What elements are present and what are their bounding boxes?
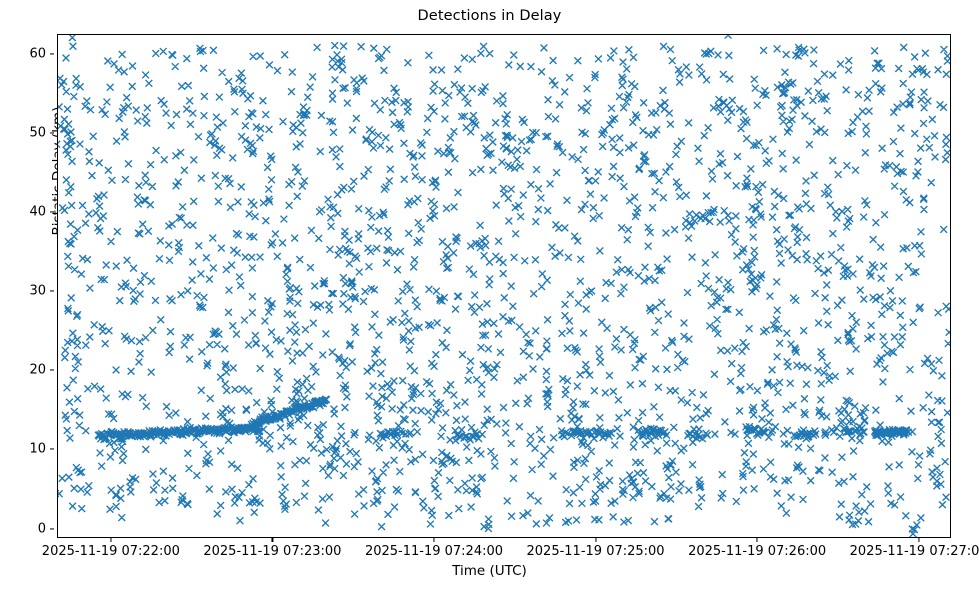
x-tick-label: 2025-11-19 07:23:00 (203, 544, 341, 559)
y-tick-mark (50, 528, 54, 529)
y-tick-mark (50, 449, 54, 450)
y-tick-label: 60 (6, 46, 46, 61)
y-tick-label: 40 (6, 205, 46, 220)
x-tick-label: 2025-11-19 07:22:00 (42, 544, 180, 559)
matplotlib-figure: Detections in Delay Bistatic Delay (km) … (0, 0, 979, 590)
y-tick-mark (50, 53, 54, 54)
x-tick-label: 2025-11-19 07:24:00 (365, 544, 503, 559)
y-axis-tick-labels: 0102030405060 (2, 34, 46, 538)
x-tick-label: 2025-11-19 07:26:00 (688, 544, 826, 559)
y-tick-mark (50, 211, 54, 212)
y-tick-label: 0 (6, 521, 46, 536)
y-tick-mark (50, 132, 54, 133)
x-tick-label: 2025-11-19 07:27:00 (850, 544, 979, 559)
y-tick-mark (50, 291, 54, 292)
plot-area (57, 34, 951, 538)
y-axis-tick-marks (50, 34, 57, 538)
y-tick-label: 50 (6, 125, 46, 140)
y-tick-label: 30 (6, 284, 46, 299)
scatter-series-detections (58, 35, 950, 537)
x-tick-label: 2025-11-19 07:25:00 (527, 544, 665, 559)
y-tick-label: 20 (6, 363, 46, 378)
x-axis-tick-labels: 2025-11-19 07:22:002025-11-19 07:23:0020… (57, 540, 951, 562)
y-tick-label: 10 (6, 442, 46, 457)
page-title: Detections in Delay (0, 8, 979, 24)
y-tick-mark (50, 370, 54, 371)
detection-markers (58, 35, 950, 537)
x-axis-label: Time (UTC) (0, 563, 979, 579)
